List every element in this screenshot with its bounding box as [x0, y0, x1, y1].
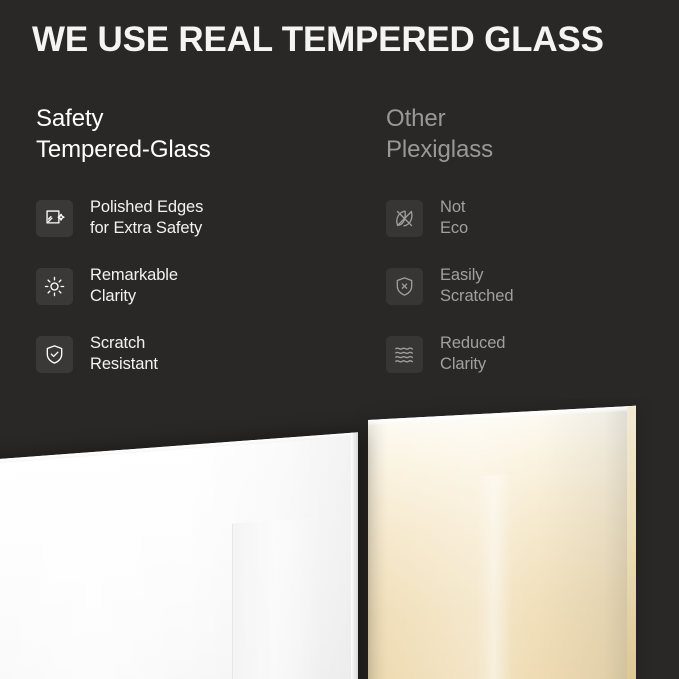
tempered-glass-panel: [0, 432, 358, 679]
feature-list-tempered-glass: Polished Edges for Extra Safety Remarkab…: [36, 196, 378, 376]
feature-reduced-clarity: Reduced Clarity: [386, 332, 679, 376]
glass-top-edge: [0, 432, 358, 466]
feature-label-easily-scratched: Easily Scratched: [440, 265, 513, 307]
feature-not-eco: Not Eco: [386, 196, 679, 240]
feature-label-polished-edges: Polished Edges for Extra Safety: [90, 197, 203, 239]
plexi-side-edge: [627, 406, 636, 679]
feature-polished-edges: Polished Edges for Extra Safety: [36, 196, 378, 240]
polished-edge-sparkle-icon: [36, 200, 73, 237]
wavy-lines-icon: [386, 336, 423, 373]
product-photo: [0, 398, 679, 679]
feature-remarkable-clarity: Remarkable Clarity: [36, 264, 378, 308]
shield-x-icon: [386, 268, 423, 305]
feature-label-scratch-resistant: Scratch Resistant: [90, 333, 158, 375]
glass-reflection: [232, 517, 318, 679]
feature-easily-scratched: Easily Scratched: [386, 264, 679, 308]
shield-check-icon: [36, 336, 73, 373]
leaf-crossed-out-icon: [386, 200, 423, 237]
comparison-columns: Safety Tempered-Glass Polished Edges for…: [0, 103, 679, 376]
feature-label-not-eco: Not Eco: [440, 197, 468, 239]
feature-list-plexiglass: Not Eco Easily Scratched: [386, 196, 679, 376]
column-tempered-glass: Safety Tempered-Glass Polished Edges for…: [0, 103, 378, 376]
column-title-tempered-glass: Safety Tempered-Glass: [36, 103, 378, 165]
plexiglass-panel: [368, 406, 636, 679]
page-title: WE USE REAL TEMPERED GLASS: [32, 18, 652, 62]
feature-label-remarkable-clarity: Remarkable Clarity: [90, 265, 178, 307]
column-plexiglass: Other Plexiglass Not Eco: [378, 103, 679, 376]
feature-scratch-resistant: Scratch Resistant: [36, 332, 378, 376]
plexi-top-edge: [368, 406, 636, 425]
sun-brightness-icon: [36, 268, 73, 305]
feature-label-reduced-clarity: Reduced Clarity: [440, 333, 505, 375]
glass-side-edge: [351, 432, 358, 679]
plexi-reflection: [476, 474, 512, 679]
column-title-plexiglass: Other Plexiglass: [386, 103, 679, 165]
comparison-infographic: WE USE REAL TEMPERED GLASS Safety Temper…: [0, 0, 679, 679]
